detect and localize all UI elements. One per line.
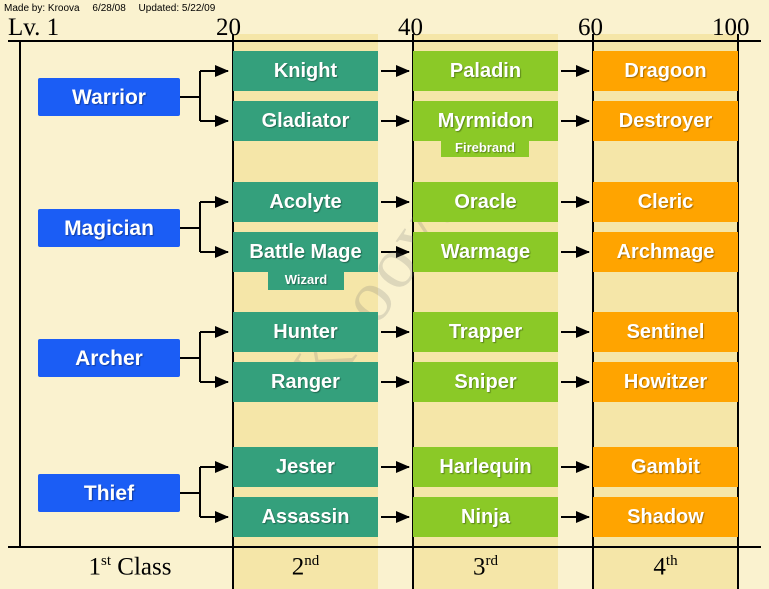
class-box-ranger[interactable]: Ranger: [233, 362, 378, 402]
level-label-60: 60: [578, 14, 603, 42]
level-label-100: 100: [712, 14, 750, 42]
class-box-paladin[interactable]: Paladin: [413, 51, 558, 91]
class-box-sentinel[interactable]: Sentinel: [593, 312, 738, 352]
footer-class-1-sup: st: [101, 553, 111, 569]
footer-class-2: 2nd: [233, 553, 378, 581]
credit-updated: Updated: 5/22/09: [139, 3, 216, 14]
class-box-warmage[interactable]: Warmage: [413, 232, 558, 272]
class-box-destroyer[interactable]: Destroyer: [593, 101, 738, 141]
class-box-dragoon[interactable]: Dragoon: [593, 51, 738, 91]
class-box-sniper[interactable]: Sniper: [413, 362, 558, 402]
level-label-1: Lv. 1: [8, 14, 59, 42]
footer-class-1-suffix: Class: [111, 553, 171, 580]
class-box-archer[interactable]: Archer: [38, 339, 180, 377]
footer-class-1-num: 1: [89, 553, 102, 580]
class-box-thief[interactable]: Thief: [38, 474, 180, 512]
class-box-assassin[interactable]: Assassin: [233, 497, 378, 537]
class-box-archmage[interactable]: Archmage: [593, 232, 738, 272]
footer-class-3: 3rd: [413, 553, 558, 581]
class-box-battle-mage[interactable]: Battle Mage: [233, 232, 378, 272]
class-box-harlequin[interactable]: Harlequin: [413, 447, 558, 487]
class-sublabel-firebrand[interactable]: Firebrand: [441, 137, 529, 157]
class-box-myrmidon[interactable]: Myrmidon: [413, 101, 558, 141]
class-box-gladiator[interactable]: Gladiator: [233, 101, 378, 141]
class-box-acolyte[interactable]: Acolyte: [233, 182, 378, 222]
class-box-ninja[interactable]: Ninja: [413, 497, 558, 537]
level-label-40: 40: [398, 14, 423, 42]
level-label-20: 20: [216, 14, 241, 42]
class-box-trapper[interactable]: Trapper: [413, 312, 558, 352]
footer-class-2-num: 2: [292, 553, 305, 580]
class-box-howitzer[interactable]: Howitzer: [593, 362, 738, 402]
class-box-oracle[interactable]: Oracle: [413, 182, 558, 222]
class-box-jester[interactable]: Jester: [233, 447, 378, 487]
footer-class-4: 4th: [593, 553, 738, 581]
credit-line: Made by: Kroova 6/28/08 Updated: 5/22/09: [4, 3, 225, 14]
class-box-gambit[interactable]: Gambit: [593, 447, 738, 487]
footer-class-4-num: 4: [653, 553, 666, 580]
footer-class-2-sup: nd: [304, 553, 319, 569]
class-box-hunter[interactable]: Hunter: [233, 312, 378, 352]
footer-class-1: 1st Class: [30, 553, 230, 581]
credit-author: Made by: Kroova: [4, 3, 80, 14]
class-tree-diagram: Made by: Kroova 6/28/08 Updated: 5/22/09…: [0, 0, 769, 589]
class-box-warrior[interactable]: Warrior: [38, 78, 180, 116]
class-sublabel-wizard[interactable]: Wizard: [268, 268, 344, 290]
footer-class-3-sup: rd: [486, 553, 499, 569]
class-box-knight[interactable]: Knight: [233, 51, 378, 91]
credit-date: 6/28/08: [92, 3, 125, 14]
class-box-magician[interactable]: Magician: [38, 209, 180, 247]
class-box-shadow[interactable]: Shadow: [593, 497, 738, 537]
footer-class-4-sup: th: [666, 553, 678, 569]
class-box-cleric[interactable]: Cleric: [593, 182, 738, 222]
footer-class-3-num: 3: [473, 553, 486, 580]
